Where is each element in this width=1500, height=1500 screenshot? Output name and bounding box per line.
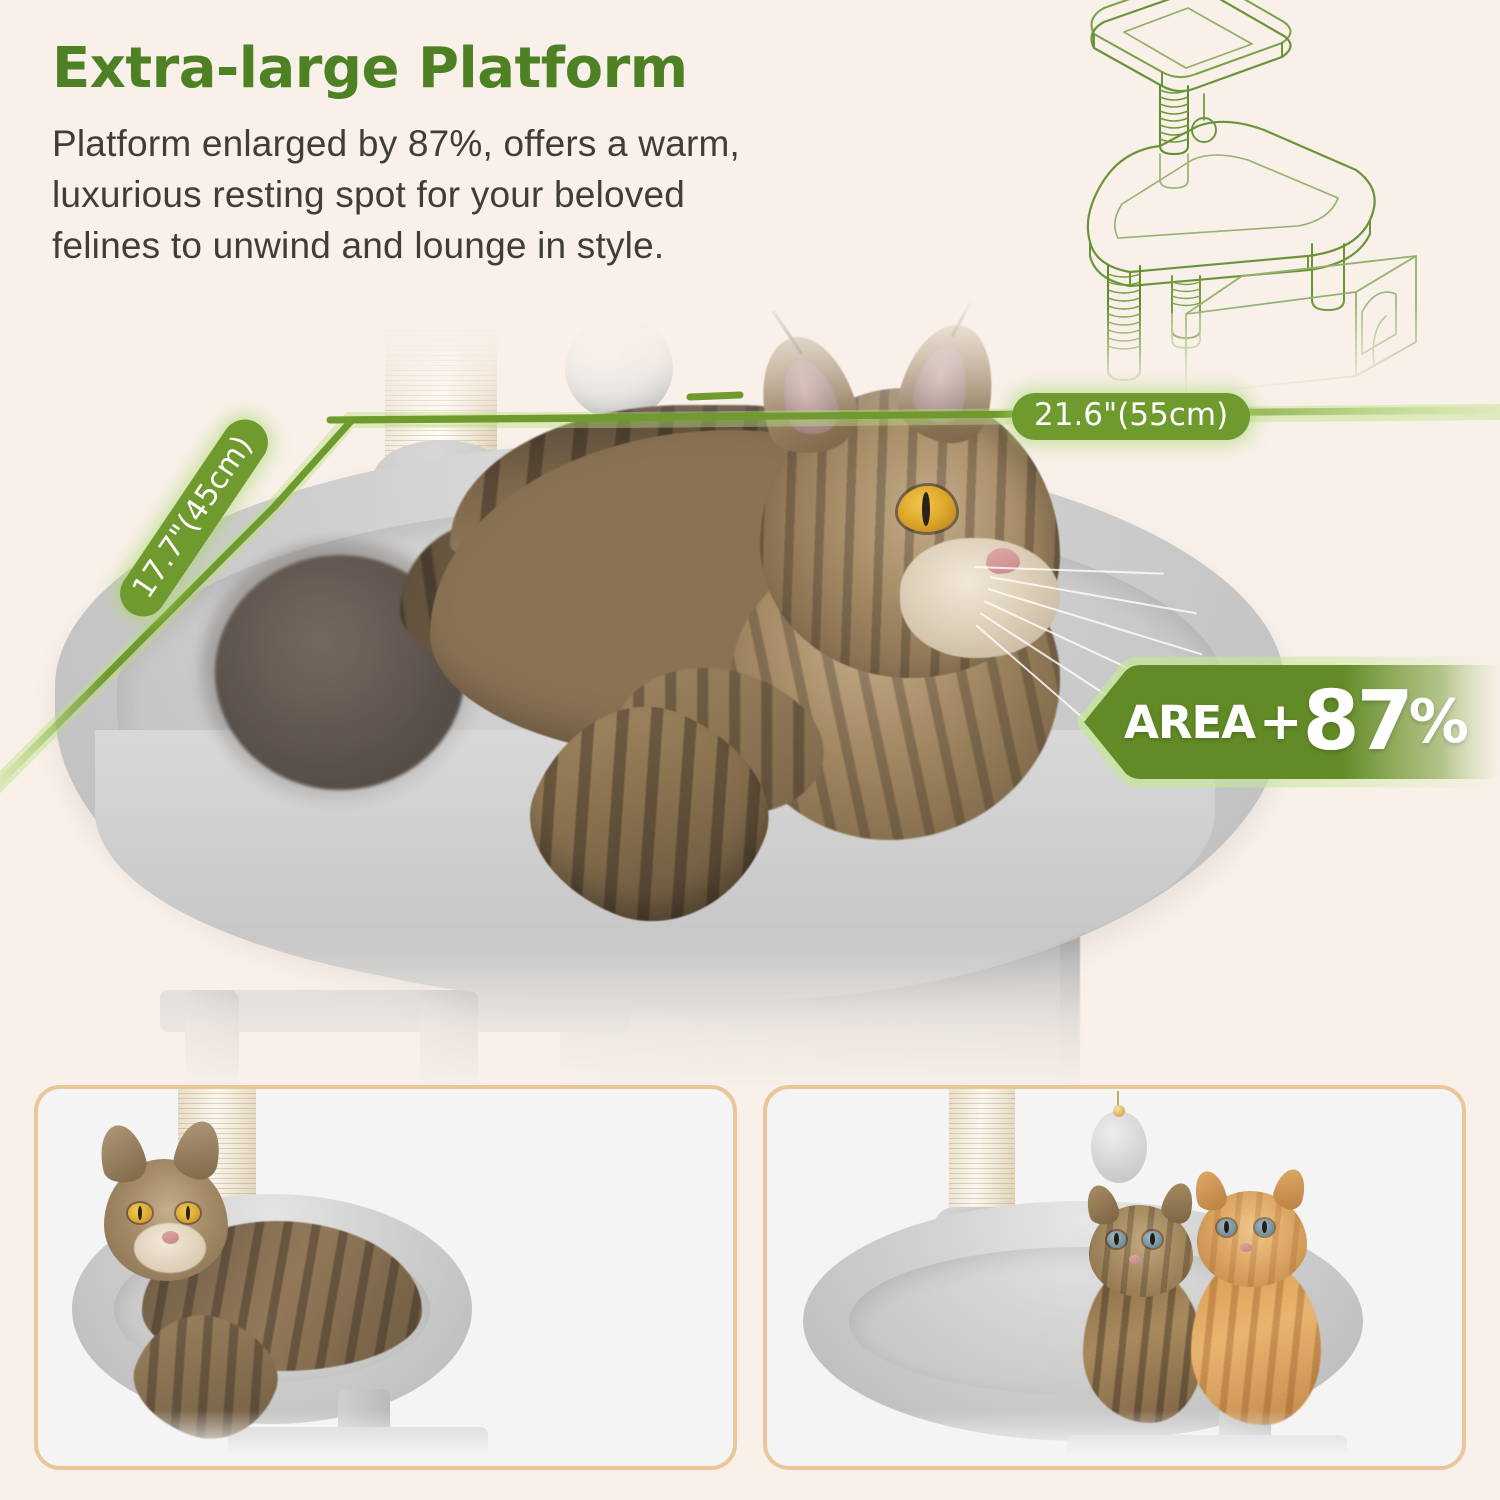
width-dimension-label: 21.6"(55cm) (1012, 393, 1250, 440)
kitten-nose (1129, 1255, 1141, 1264)
area-plus-sign: + (1259, 692, 1303, 752)
kitten-eye (1107, 1231, 1126, 1248)
copy-block: Extra-large Platform Platform enlarged b… (52, 38, 992, 271)
inset-gallery (34, 1085, 1466, 1470)
product-feature-card: Extra-large Platform Platform enlarged b… (0, 0, 1500, 1500)
diagram-top-platform (1092, 0, 1291, 91)
description-text: Platform enlarged by 87%, offers a warm,… (52, 118, 992, 271)
page-title: Extra-large Platform (52, 38, 992, 100)
description-line-1: Platform enlarged by 87%, offers a warm, (52, 118, 992, 169)
depth-dimension-line (0, 418, 640, 792)
sisal-post (949, 1085, 1015, 1219)
area-percent-sign: % (1409, 687, 1469, 757)
pompom-toy (1091, 1111, 1147, 1183)
cat-eye (128, 1203, 152, 1223)
cat-nose (162, 1231, 179, 1244)
inset-two-kittens[interactable] (763, 1085, 1466, 1470)
inset-maine-coon[interactable] (34, 1085, 737, 1470)
diagram-upper-post (1160, 86, 1188, 188)
inset-bottom-fade (767, 1410, 1462, 1466)
kitten-eye (1143, 1231, 1162, 1248)
kitten-eye (1217, 1219, 1236, 1236)
kitten-nose (1240, 1243, 1252, 1252)
area-increase-badge: AREA + 87 % (1078, 656, 1500, 788)
hero-bottom-fade (0, 940, 1500, 1090)
diagram-ball-toy (1192, 94, 1216, 142)
area-badge-text: AREA + 87 % (1124, 656, 1469, 788)
diagram-mid-platform (1088, 122, 1375, 286)
kitten-eye (1255, 1219, 1274, 1236)
cat-eye (176, 1203, 200, 1223)
description-line-2: luxurious resting spot for your beloved (52, 169, 992, 220)
area-word: AREA (1124, 696, 1255, 749)
maine-coon-cat (84, 1111, 414, 1411)
description-line-3: felines to unwind and lounge in style. (52, 220, 992, 271)
area-number: 87 (1303, 685, 1411, 759)
inset-bottom-fade (38, 1410, 733, 1466)
kitten-orange (1175, 1173, 1345, 1423)
